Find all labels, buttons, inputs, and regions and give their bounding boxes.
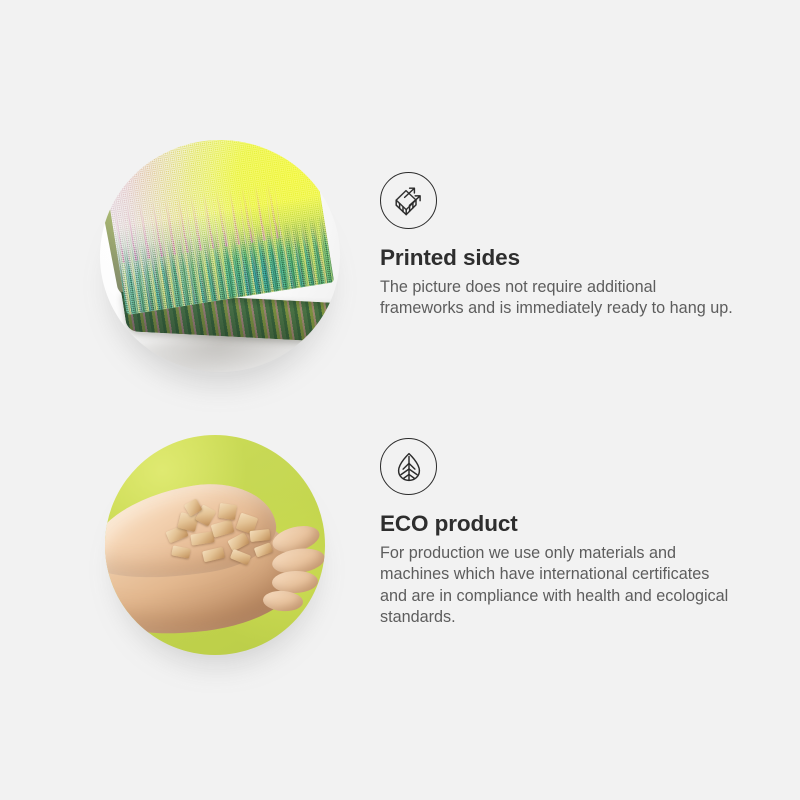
leaf-icon bbox=[380, 438, 437, 495]
wood-chip bbox=[171, 545, 190, 558]
feature-title: Printed sides bbox=[380, 244, 740, 271]
canvas-weave-texture bbox=[100, 140, 334, 315]
product-features-page: Printed sides The picture does not requi… bbox=[0, 0, 800, 800]
feature-eco-product: ECO product For production we use only m… bbox=[0, 400, 800, 800]
wood-chip bbox=[254, 543, 273, 558]
wood-chip bbox=[190, 531, 214, 545]
wood-chip bbox=[250, 528, 271, 541]
wood-chip bbox=[202, 546, 225, 562]
canvas-print-photo bbox=[100, 140, 340, 372]
canvas-print-object bbox=[100, 140, 340, 353]
feature-title: ECO product bbox=[380, 510, 740, 537]
feature-eco-product-text: ECO product For production we use only m… bbox=[380, 438, 740, 629]
feature-description: For production we use only materials and… bbox=[380, 543, 740, 629]
wood-chip bbox=[218, 503, 237, 520]
wood-chip-pile bbox=[162, 501, 281, 580]
wood-chip bbox=[211, 519, 235, 537]
wood-chip bbox=[227, 532, 249, 551]
feature-description: The picture does not require additional … bbox=[380, 277, 740, 320]
canvas-printed-face bbox=[100, 140, 334, 315]
printed-sides-icon bbox=[380, 172, 437, 229]
wood-chips-in-hands-photo bbox=[105, 435, 325, 655]
feature-printed-sides: Printed sides The picture does not requi… bbox=[0, 0, 800, 400]
wood-chip bbox=[230, 548, 251, 565]
feature-printed-sides-text: Printed sides The picture does not requi… bbox=[380, 172, 740, 320]
